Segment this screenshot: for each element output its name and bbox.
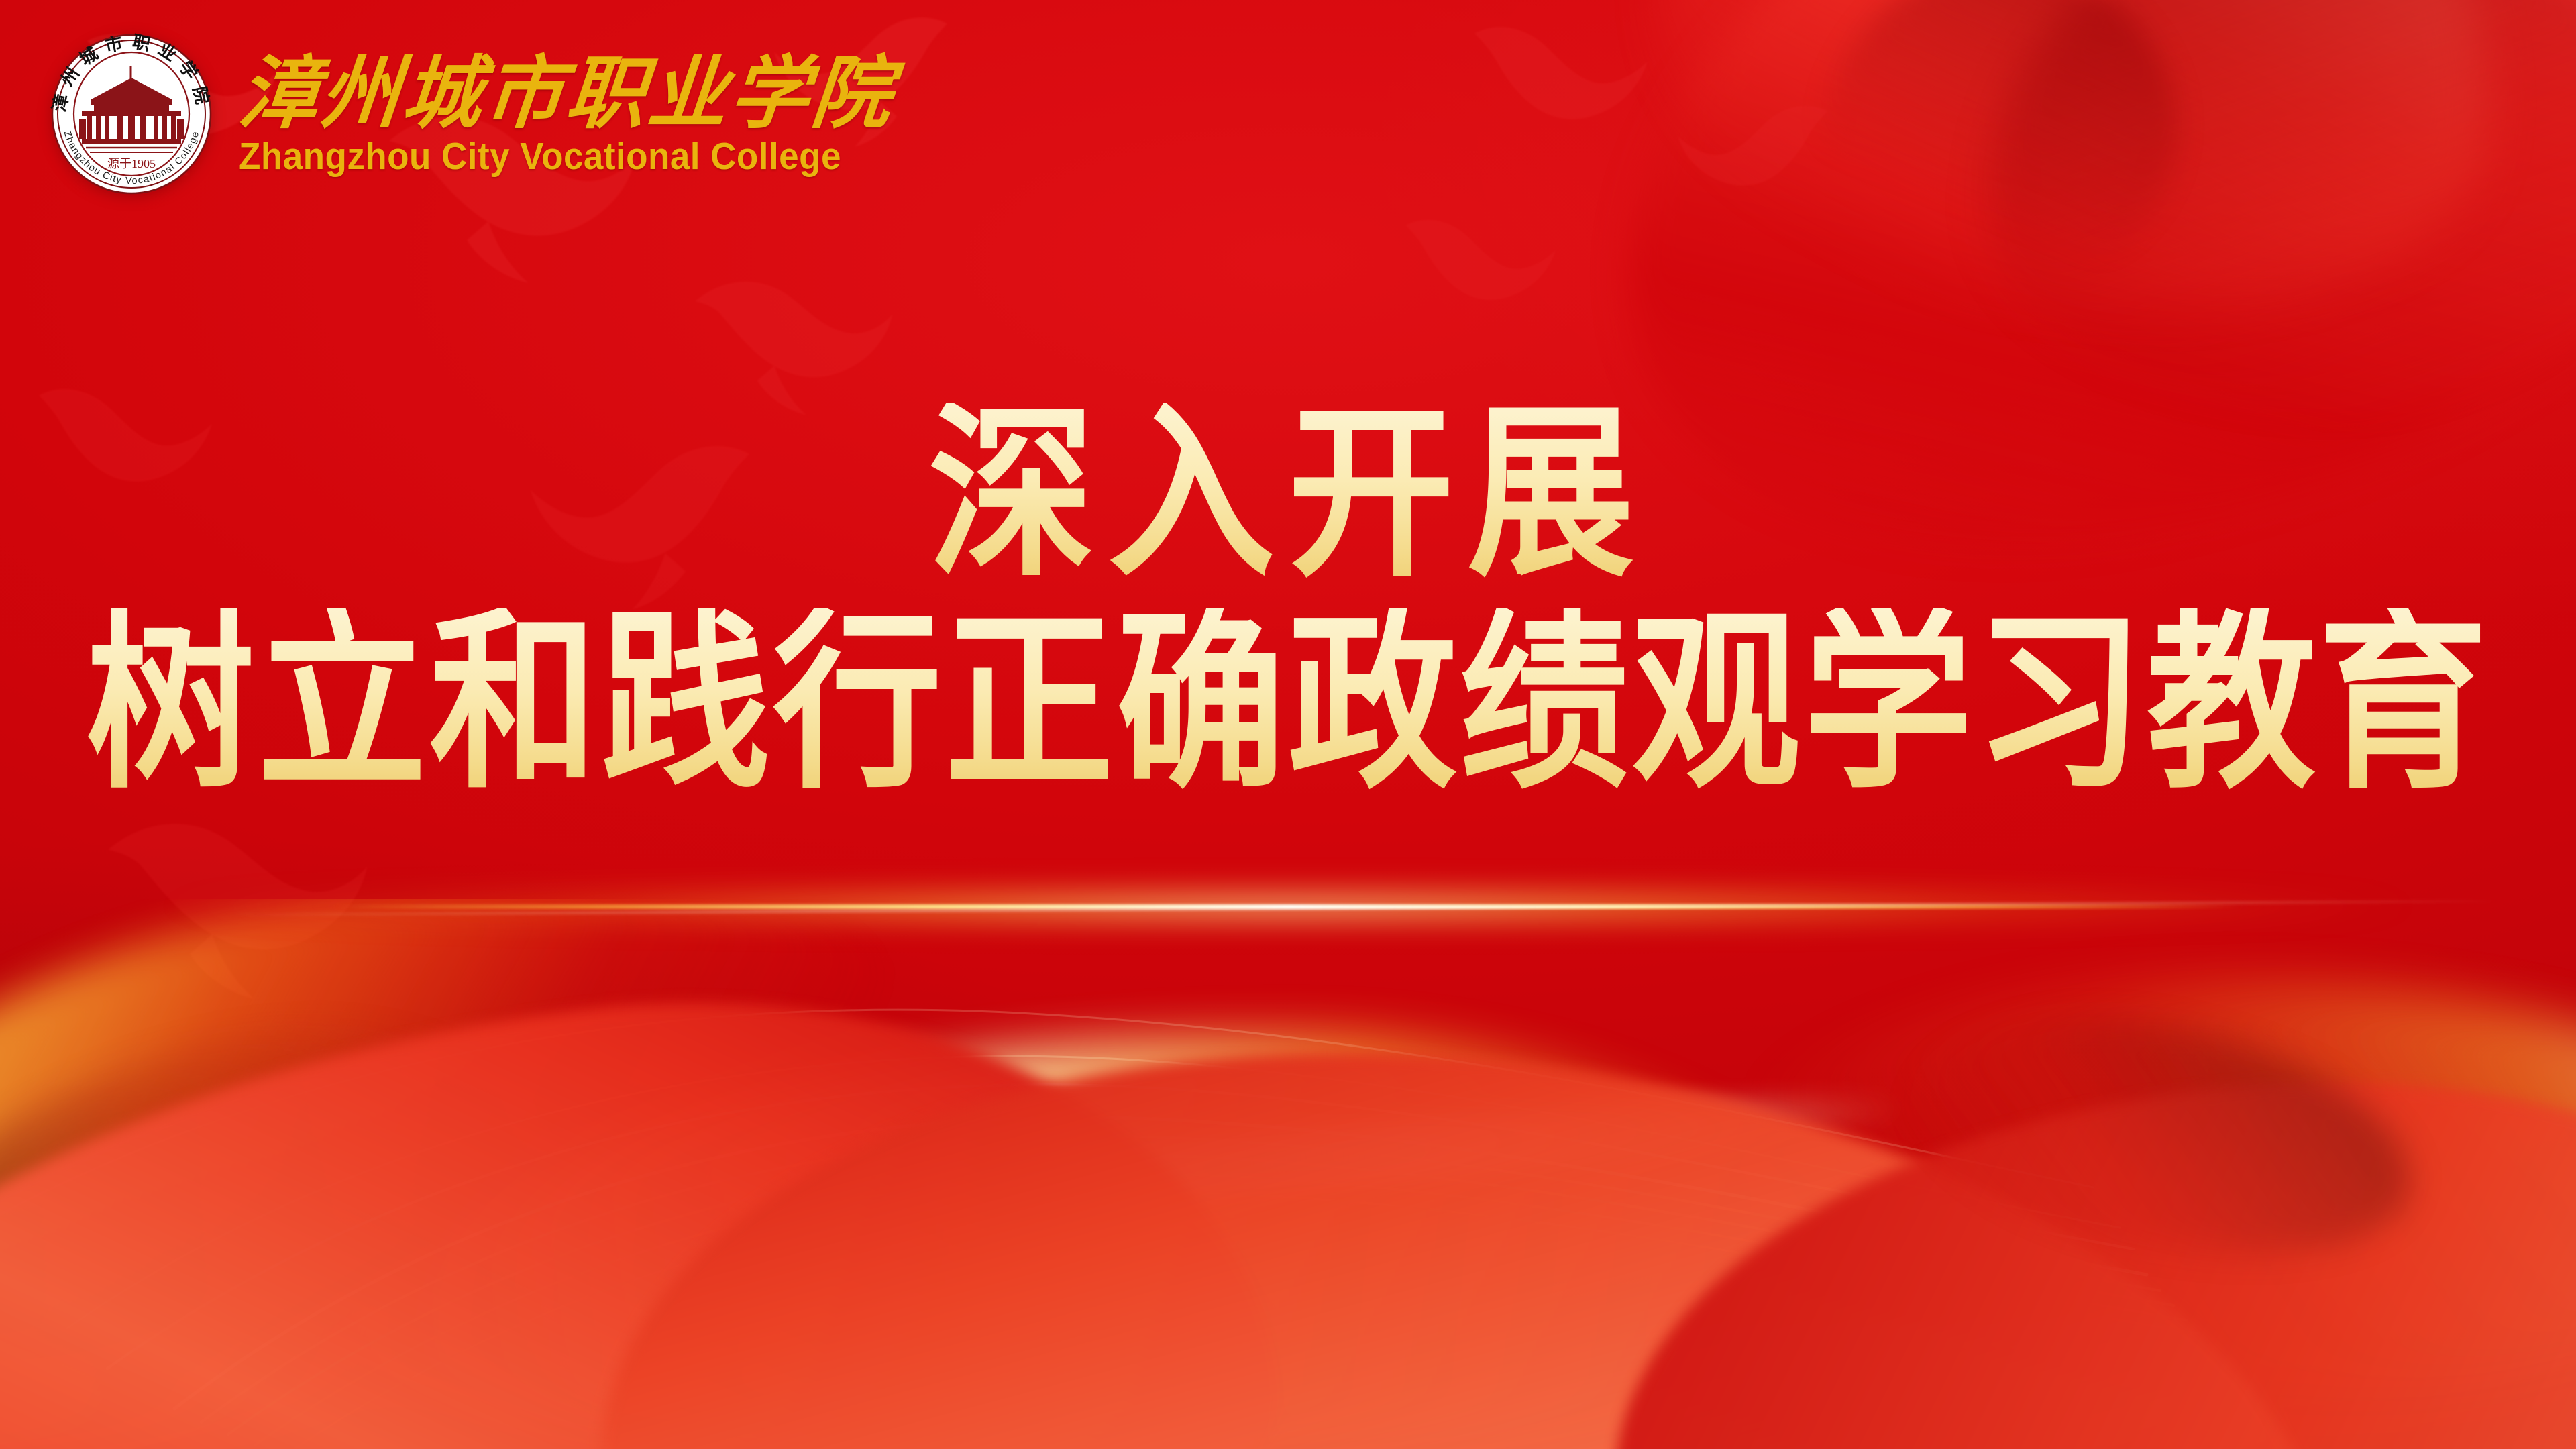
college-name-en: Zhangzhou City Vocational College — [239, 137, 848, 177]
golden-red-silk-wave-bottom — [0, 899, 2576, 1449]
headline-line-1: 深入开展 — [0, 402, 2576, 589]
college-name-block: 漳州城市职业学院 Zhangzhou City Vocational Colle… — [239, 51, 894, 177]
headline-line-2: 树立和践行正确政绩观学习教育 — [0, 608, 2576, 800]
seal-icon: 源于1905 Zhangzhou City Vocational College… — [42, 24, 221, 204]
headline-block: 深入开展 树立和践行正确政绩观学习教育 — [0, 402, 2576, 777]
seal-founded-text: 源于1905 — [107, 157, 156, 170]
banner-canvas: 源于1905 Zhangzhou City Vocational College… — [0, 0, 2576, 1449]
college-name-cn: 漳州城市职业学院 — [235, 55, 897, 134]
college-seal-emblem: 源于1905 Zhangzhou City Vocational College… — [42, 24, 221, 204]
college-logo-lockup[interactable]: 源于1905 Zhangzhou City Vocational College… — [42, 24, 894, 204]
